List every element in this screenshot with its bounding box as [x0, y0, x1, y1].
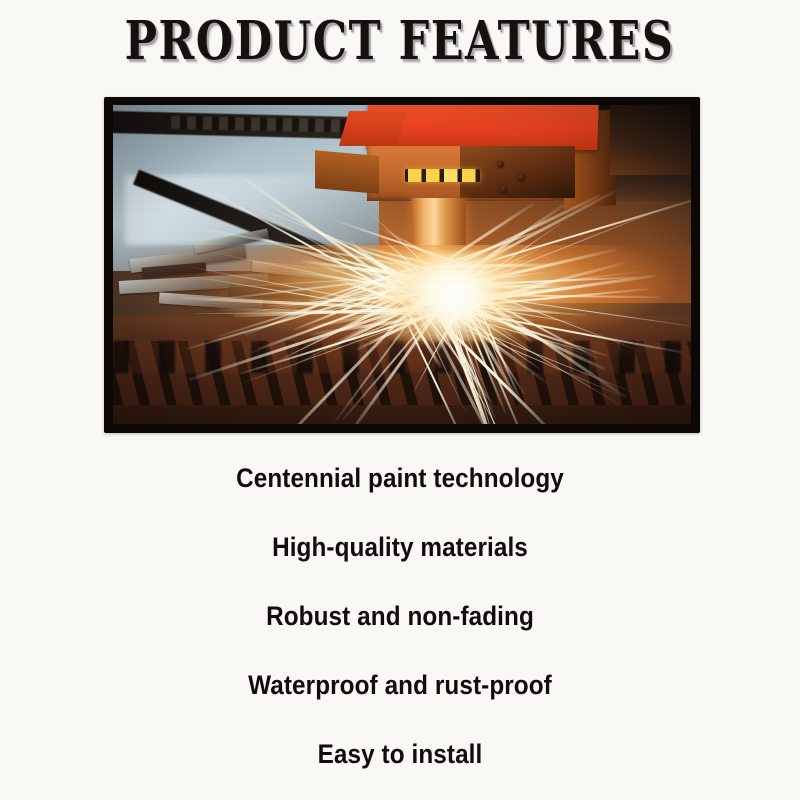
feature-item-2: High-quality materials [40, 522, 760, 591]
feature-item-4: Waterproof and rust-proof [40, 660, 760, 729]
feature-item-3: Robust and non-fading [40, 591, 760, 660]
page-title: PRODUCT FEATURES [125, 14, 675, 70]
feature-list: Centennial paint technology High-quality… [0, 453, 800, 798]
feature-item-5: Easy to install [40, 729, 760, 798]
hero-image-frame [104, 97, 700, 433]
product-features-poster: PRODUCT FEATURES [0, 0, 800, 800]
feature-item-1: Centennial paint technology [40, 453, 760, 522]
photo-vignette [113, 105, 691, 424]
hero-image [113, 105, 691, 424]
page-title-container: PRODUCT FEATURES [0, 14, 800, 60]
